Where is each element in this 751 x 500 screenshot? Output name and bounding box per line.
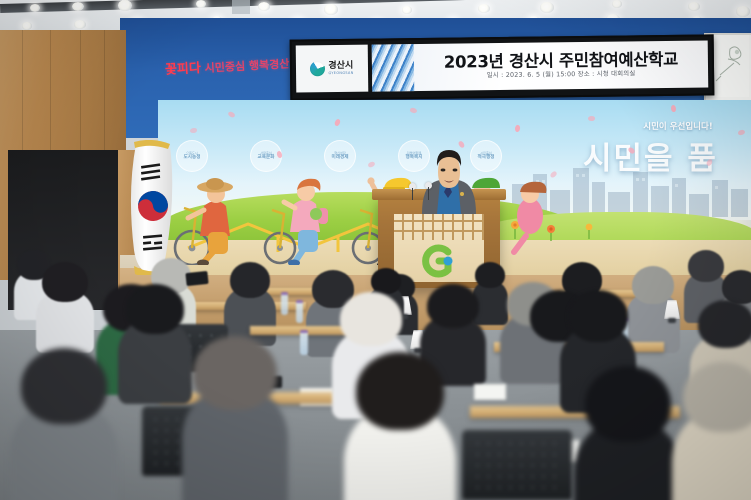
logo-label: 경산시 <box>328 62 353 71</box>
screen-slogan-large: 시민을 품 <box>583 133 751 178</box>
ceiling-light <box>324 4 338 15</box>
ceiling-light <box>258 2 270 11</box>
audience-head <box>126 284 184 334</box>
chair-perforations <box>472 438 564 492</box>
cyclists-illustration <box>158 140 578 265</box>
audience-head <box>722 270 751 304</box>
wall-slogan-rest: 시민중심 행복경산 <box>201 57 290 75</box>
gyeongsan-logo-icon <box>310 61 325 76</box>
ceiling-light <box>612 0 622 8</box>
rider-pink-partial <box>514 182 546 252</box>
ceiling-light <box>74 20 86 29</box>
audience-member <box>10 348 118 500</box>
audience-head <box>683 362 751 432</box>
title-monitor: 2023년 경산시 주민참여예산학교 일시 : 2023. 6. 5 (월) 1… <box>372 40 709 91</box>
microphone-stem-left <box>412 188 413 200</box>
desk-name-card-base <box>668 318 676 323</box>
water-bottle <box>281 292 288 315</box>
audience-head <box>340 292 402 346</box>
audience-head <box>21 348 107 424</box>
audience-head <box>632 266 674 304</box>
ceiling-light <box>540 2 554 13</box>
monitor-decoration <box>372 44 415 92</box>
city-logo-monitor: 경산시 GYEONGSAN <box>296 45 369 93</box>
podium-lattice <box>394 214 484 240</box>
audience-head <box>356 352 444 430</box>
logo-sublabel: GYEONGSAN <box>328 71 353 75</box>
speaker-at-podium <box>418 142 480 214</box>
ceiling-light <box>736 6 750 17</box>
audience-head <box>585 366 671 442</box>
ceiling-light <box>478 4 490 13</box>
ceiling-light <box>118 0 132 11</box>
audience-member <box>574 366 682 500</box>
audience-head <box>698 300 751 348</box>
audience-head <box>42 262 88 302</box>
document-page <box>474 384 506 400</box>
audience-member <box>118 284 192 418</box>
ceiling-light <box>22 22 32 30</box>
ceiling-light <box>688 2 700 11</box>
ceiling-light <box>72 2 84 11</box>
overhead-monitor-bar: 경산시 GYEONGSAN 2023년 경산시 주민참여예산학교 일시 : 20… <box>290 34 715 100</box>
microphone-stem-right <box>428 187 429 200</box>
ceiling-light <box>402 6 412 14</box>
korean-flag <box>122 140 184 275</box>
water-bottle <box>300 330 308 355</box>
ceiling-vent <box>232 0 250 14</box>
audience-head <box>427 284 479 328</box>
conference-photo: 꽃피다 시민중심 행복경산 경산시 GYEONGSAN 2023년 경산시 주민… <box>0 0 751 500</box>
cherry-petal <box>671 105 676 112</box>
water-bottle <box>296 300 303 323</box>
audience-head <box>230 262 270 298</box>
audience-head <box>371 268 401 294</box>
audience-head <box>193 336 277 410</box>
wall-slogan-bold: 꽃피다 <box>165 61 202 78</box>
screen-slogan-small: 시민이 우선입니다! <box>608 120 748 132</box>
podium-emblem <box>418 244 458 278</box>
audience-member <box>672 362 751 500</box>
audience-member <box>344 352 456 500</box>
rider-woman <box>284 179 328 265</box>
audience-head <box>568 290 628 342</box>
audience-member <box>182 336 288 500</box>
ceiling-light <box>196 0 206 8</box>
ceiling-light <box>30 4 40 12</box>
